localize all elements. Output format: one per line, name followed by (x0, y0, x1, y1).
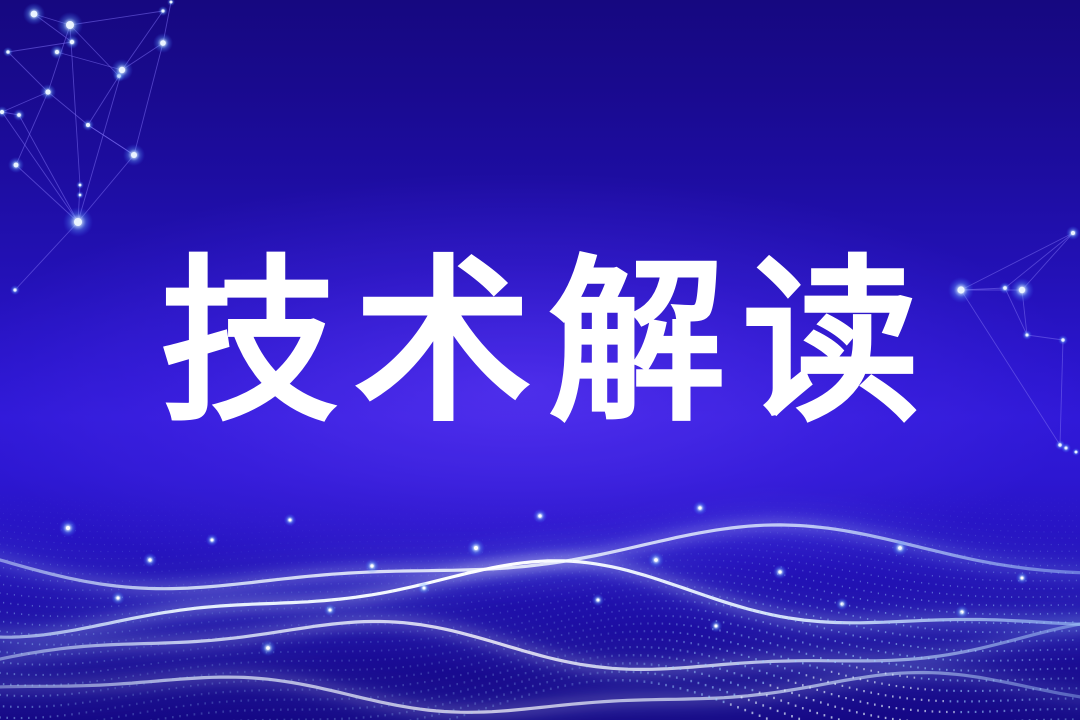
particle-dot (431, 582, 432, 584)
particle-dot (485, 571, 486, 573)
particle-dot (154, 619, 155, 621)
particle-dot (561, 648, 563, 650)
particle-dot (460, 707, 462, 709)
particle-dot (1036, 678, 1038, 680)
particle-dot (496, 527, 497, 528)
particle-dot (582, 629, 584, 631)
particle-dot (694, 500, 695, 501)
particle-dot (892, 521, 893, 522)
particle-dot (654, 607, 655, 609)
particle-dot (701, 572, 702, 574)
particle-dot (619, 509, 620, 510)
particle-dot (701, 602, 702, 604)
particle-dot (208, 589, 209, 591)
particle-dot (485, 707, 487, 709)
particle-dot (777, 687, 779, 689)
particle-dot (295, 499, 296, 500)
particle-dot (392, 513, 393, 514)
particle-dot (845, 675, 847, 677)
particle-dot (1072, 503, 1073, 504)
particle-dot (673, 495, 674, 496)
particle-dot (802, 603, 803, 605)
particle-dot (669, 623, 671, 625)
particle-dot (813, 634, 814, 636)
particle-dot (813, 504, 814, 505)
particle-dot (10, 622, 11, 624)
particle-dot (619, 571, 620, 573)
particle-dot (143, 595, 144, 597)
particle-dot (468, 540, 469, 541)
particle-dot (558, 528, 559, 529)
particle-dot (723, 604, 724, 606)
particle-dot (856, 556, 857, 557)
particle-dot (482, 669, 484, 671)
particle-dot (561, 663, 563, 665)
particle-dot (518, 574, 519, 576)
particle-dot (378, 535, 379, 536)
particle-dot (467, 688, 469, 690)
particle-dot (482, 509, 483, 510)
particle-dot (726, 670, 728, 672)
particle-dot (1072, 621, 1073, 623)
particle-dot (975, 535, 976, 536)
particle-dot (792, 495, 793, 496)
particle-dot (817, 557, 818, 559)
particle-dot (79, 550, 80, 551)
particle-dot (464, 649, 466, 651)
particle-dot (216, 534, 217, 535)
particle-dot (766, 564, 767, 566)
particle-dot (226, 552, 227, 553)
particle-dot (611, 584, 612, 586)
particle-dot (773, 551, 774, 553)
particle-dot (881, 553, 882, 554)
particle-dot (180, 549, 181, 550)
particle-dot (971, 604, 972, 606)
particle-dot (298, 536, 299, 537)
particle-dot (147, 572, 148, 573)
particle-dot (442, 703, 444, 705)
particle-dot (979, 604, 980, 606)
particle-dot (428, 523, 429, 524)
particle-dot (1036, 698, 1038, 700)
particle-dot (604, 503, 605, 504)
particle-dot (612, 502, 613, 503)
particle-dot (1061, 596, 1062, 598)
particle-dot (536, 520, 537, 521)
particle-dot (406, 575, 407, 577)
particle-dot (1011, 596, 1012, 598)
particle-dot (287, 689, 289, 691)
particle-dot (1072, 531, 1073, 532)
particle-dot (939, 629, 940, 631)
particle-dot (533, 496, 534, 497)
particle-dot (889, 527, 890, 528)
particle-dot (788, 637, 790, 639)
particle-dot (471, 632, 472, 634)
particle-dot (385, 505, 386, 506)
particle-dot (946, 669, 948, 671)
particle-dot (219, 509, 220, 510)
particle-dot (817, 519, 818, 520)
particle-dot (572, 496, 573, 497)
particle-dot (439, 529, 440, 530)
particle-dot (28, 653, 29, 655)
particle-dot (442, 589, 443, 591)
particle-dot (673, 501, 674, 502)
particle-dot (345, 529, 346, 530)
particle-dot (414, 499, 415, 500)
particle-dot (421, 513, 422, 514)
particle-dot (424, 509, 425, 510)
particle-dot (370, 524, 371, 525)
particle-dot (730, 661, 732, 663)
particle-dot (82, 662, 83, 664)
particle-dot (971, 640, 972, 642)
particle-dot (863, 557, 864, 558)
particle-dot (79, 565, 80, 566)
particle-dot (18, 514, 19, 515)
particle-dot (1025, 596, 1026, 598)
particle-dot (0, 694, 1, 696)
particle-dot (82, 624, 83, 626)
particle-dot (356, 547, 357, 548)
particle-dot (918, 543, 919, 544)
particle-dot (399, 523, 400, 524)
particle-dot (18, 553, 19, 554)
particle-dot (327, 548, 328, 549)
particle-dot (554, 500, 555, 501)
particle-dot (349, 505, 350, 506)
particle-dot (745, 592, 746, 594)
particle-dot (345, 519, 346, 520)
particle-dot (961, 502, 962, 503)
particle-dot (298, 642, 299, 644)
particle-dot (396, 502, 397, 503)
particle-dot (86, 711, 88, 713)
particle-dot (507, 655, 509, 657)
particle-dot (151, 628, 152, 630)
particle-dot (269, 577, 270, 579)
particle-dot (597, 540, 598, 541)
particle-dot (640, 568, 641, 570)
particle-dot (1026, 514, 1027, 515)
particle-dot (410, 518, 411, 519)
particle-dot (846, 495, 847, 496)
particle-dot (237, 545, 238, 546)
particle-dot (586, 558, 587, 560)
particle-dot (295, 599, 296, 601)
particle-dot (341, 607, 342, 609)
particle-dot (626, 583, 627, 585)
particle-dot (244, 572, 245, 573)
particle-dot (590, 673, 592, 675)
particle-dot (464, 633, 465, 635)
particle-dot (540, 535, 541, 536)
particle-dot (86, 537, 87, 538)
particle-dot (392, 590, 393, 592)
particle-dot (197, 614, 198, 616)
particle-dot (86, 525, 87, 526)
particle-dot (0, 611, 1, 613)
particle-dot (536, 578, 537, 580)
particle-dot (583, 531, 584, 532)
particle-dot (489, 528, 490, 529)
particle-dot (133, 604, 134, 606)
particle-dot (763, 543, 764, 544)
particle-dot (435, 523, 436, 524)
particle-dot (856, 499, 857, 500)
particle-dot (525, 560, 526, 561)
particle-dot (885, 532, 886, 533)
particle-dot (262, 625, 263, 627)
particle-dot (449, 701, 451, 703)
particle-dot (903, 625, 904, 627)
particle-dot (701, 587, 702, 589)
particle-dot (388, 598, 389, 600)
particle-dot (979, 640, 980, 642)
particle-dot (773, 597, 774, 599)
particle-dot (442, 560, 443, 561)
particle-dot (687, 559, 688, 561)
particle-dot (784, 712, 786, 714)
particle-dot (960, 690, 962, 692)
particle-dot (35, 579, 36, 580)
particle-dot (305, 698, 307, 700)
particle-dot (878, 693, 880, 695)
particle-dot (492, 628, 493, 630)
particle-dot (334, 624, 335, 626)
particle-dot (140, 655, 141, 657)
particle-dot (341, 660, 343, 662)
particle-dot (327, 642, 328, 644)
particle-dot (615, 590, 616, 592)
particle-dot (961, 534, 962, 535)
particle-dot (50, 580, 51, 581)
particle-dot (270, 537, 271, 538)
particle-dot (471, 587, 472, 589)
particle-dot (568, 676, 570, 678)
particle-dot (594, 535, 595, 536)
particle-dot (1022, 519, 1023, 520)
particle-dot (665, 573, 666, 575)
particle-dot (914, 698, 916, 700)
particle-dot (932, 592, 933, 594)
particle-dot (835, 620, 836, 622)
particle-dot (547, 524, 548, 525)
particle-dot (316, 542, 317, 543)
particle-dot (32, 555, 33, 556)
particle-dot (521, 636, 523, 638)
particle-dot (234, 552, 235, 553)
particle-dot (86, 598, 87, 600)
particle-dot (313, 591, 314, 593)
particle-dot (255, 609, 256, 611)
particle-dot (788, 658, 790, 660)
particle-dot (860, 503, 861, 504)
particle-dot (608, 618, 610, 620)
particle-dot (720, 530, 721, 531)
particle-dot (183, 650, 184, 652)
particle-dot (932, 610, 933, 612)
particle-dot (899, 563, 900, 564)
particle-dot (676, 676, 678, 678)
particle-dot (975, 711, 977, 713)
particle-dot (734, 568, 735, 570)
particle-dot (316, 651, 317, 653)
particle-dot (305, 642, 306, 644)
particle-dot (352, 519, 353, 520)
particle-dot (971, 622, 972, 624)
particle-dot (874, 704, 876, 706)
particle-dot (554, 569, 555, 571)
particle-dot (834, 661, 836, 663)
particle-dot (302, 651, 303, 653)
particle-dot (360, 529, 361, 530)
particle-dot (975, 650, 976, 652)
particle-dot (273, 556, 274, 557)
particle-dot (964, 700, 966, 702)
particle-dot (83, 502, 84, 503)
particle-dot (467, 566, 468, 567)
particle-dot (464, 499, 465, 500)
particle-dot (960, 669, 962, 671)
particle-dot (878, 611, 879, 613)
particle-dot (176, 706, 178, 708)
particle-dot (330, 688, 332, 690)
particle-dot (104, 660, 105, 662)
particle-dot (471, 663, 473, 665)
particle-dot (493, 557, 494, 558)
particle-dot (514, 521, 515, 522)
particle-dot (500, 687, 502, 689)
particle-dot (431, 597, 432, 599)
particle-dot (608, 663, 610, 665)
particle-dot (288, 503, 289, 504)
particle-dot (755, 638, 757, 640)
particle-dot (244, 533, 245, 534)
particle-dot (615, 604, 616, 606)
particle-dot (680, 687, 682, 689)
particle-dot (180, 515, 181, 516)
particle-dot (888, 706, 890, 708)
particle-dot (449, 619, 450, 621)
particle-dot (7, 612, 8, 614)
particle-dot (770, 502, 771, 503)
particle-dot (997, 580, 998, 582)
particle-dot (788, 679, 790, 681)
particle-dot (536, 619, 537, 621)
particle-dot (222, 711, 224, 713)
particle-dot (230, 619, 231, 621)
particle-dot (57, 498, 58, 499)
particle-dot (600, 680, 602, 682)
particle-dot (53, 705, 55, 707)
particle-dot (305, 562, 306, 563)
particle-dot (597, 562, 598, 564)
particle-dot (878, 716, 880, 718)
particle-dot (644, 663, 646, 665)
particle-dot (126, 544, 127, 545)
particle-dot (759, 563, 760, 565)
particle-dot (1040, 649, 1041, 651)
particle-dot (590, 520, 591, 521)
particle-dot (158, 610, 159, 612)
particle-dot (514, 512, 515, 513)
particle-dot (277, 516, 278, 517)
particle-dot (518, 501, 519, 502)
particle-dot (748, 542, 749, 543)
particle-dot (532, 525, 533, 526)
particle-dot (730, 547, 731, 549)
particle-dot (752, 667, 754, 669)
particle-dot (752, 536, 753, 537)
particle-dot (896, 643, 897, 645)
particle-dot (57, 523, 58, 524)
particle-dot (377, 591, 378, 593)
particle-dot (0, 672, 1, 674)
particle-dot (187, 524, 188, 525)
particle-dot (194, 640, 195, 642)
particle-dot (61, 518, 62, 519)
particle-dot (701, 635, 703, 637)
particle-dot (770, 707, 772, 709)
particle-dot (543, 660, 545, 662)
particle-dot (507, 504, 508, 505)
particle-dot (766, 492, 767, 493)
particle-dot (222, 691, 224, 693)
particle-dot (255, 643, 256, 645)
particle-dot (673, 527, 674, 528)
particle-dot (262, 643, 263, 645)
particle-dot (532, 500, 533, 501)
particle-dot (1022, 659, 1023, 661)
particle-dot (288, 499, 289, 500)
particle-dot (564, 613, 565, 615)
particle-dot (561, 496, 562, 497)
particle-dot (622, 522, 623, 523)
particle-dot (57, 694, 59, 696)
particle-dot (889, 603, 890, 605)
particle-dot (518, 561, 519, 562)
particle-dot (968, 512, 969, 513)
particle-dot (176, 503, 177, 504)
particle-dot (849, 570, 850, 572)
particle-dot (622, 603, 623, 605)
particle-dot (756, 495, 757, 496)
particle-dot (284, 577, 285, 579)
particle-dot (755, 556, 756, 558)
particle-dot (39, 541, 40, 542)
particle-dot (705, 496, 706, 497)
particle-dot (252, 522, 253, 523)
particle-dot (201, 506, 202, 507)
particle-dot (424, 582, 425, 584)
particle-dot (568, 499, 569, 500)
particle-dot (874, 525, 875, 526)
particle-dot (392, 547, 393, 548)
particle-dot (993, 641, 994, 643)
particle-dot (903, 556, 904, 557)
particle-dot (640, 495, 641, 496)
particle-dot (604, 529, 605, 530)
particle-dot (39, 644, 40, 646)
particle-dot (576, 513, 577, 514)
particle-dot (165, 525, 166, 526)
particle-dot (1058, 558, 1059, 559)
particle-dot (500, 626, 501, 628)
particle-dot (795, 492, 796, 493)
